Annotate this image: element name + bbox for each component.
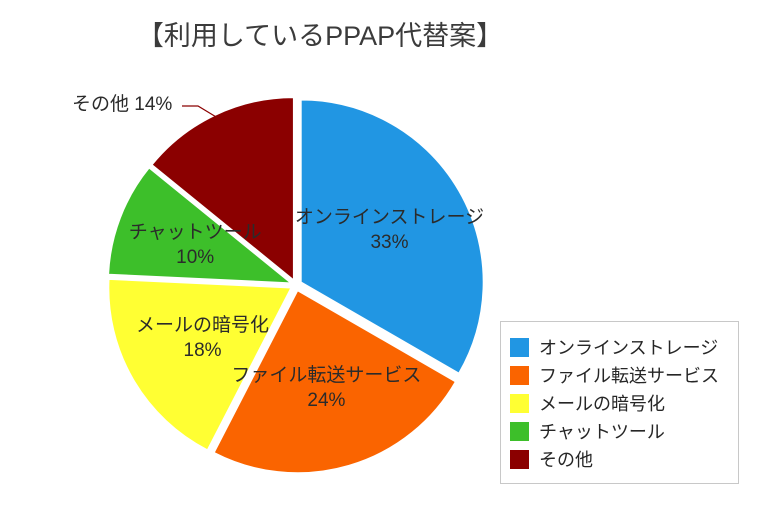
legend-swatch-icon [510,450,529,469]
legend-swatch-icon [510,338,529,357]
legend: オンラインストレージファイル転送サービスメールの暗号化チャットツールその他 [500,321,739,484]
legend-swatch-icon [510,394,529,413]
legend-item[interactable]: その他 [510,445,734,473]
legend-item-label: ファイル転送サービス [539,362,719,388]
legend-swatch-icon [510,422,529,441]
legend-list: オンラインストレージファイル転送サービスメールの暗号化チャットツールその他 [510,333,734,473]
legend-item[interactable]: メールの暗号化 [510,389,734,417]
legend-item-label: オンラインストレージ [539,334,718,360]
leader-line [182,106,216,117]
legend-item-label: メールの暗号化 [539,390,665,416]
legend-item[interactable]: チャットツール [510,417,734,445]
legend-item-label: その他 [539,446,593,472]
legend-swatch-icon [510,366,529,385]
pie-chart: 【利用しているPPAP代替案】 オンラインストレージ 33% ファイル転送サービ… [0,0,765,510]
legend-item-label: チャットツール [539,418,665,444]
legend-item[interactable]: ファイル転送サービス [510,361,734,389]
leader-line-group [182,106,216,117]
legend-item[interactable]: オンラインストレージ [510,333,734,361]
pie-slice-group [109,98,484,473]
